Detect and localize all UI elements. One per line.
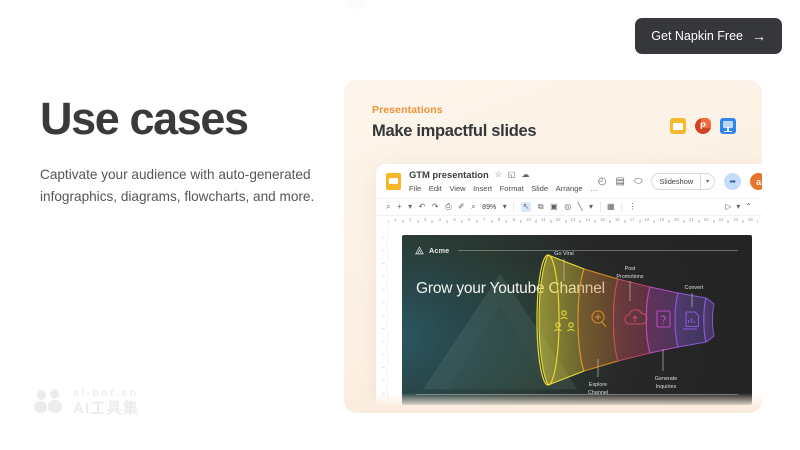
canvas-area: Acme Grow your Youtube Channel bbox=[376, 227, 762, 413]
ruler-unit: 6 bbox=[462, 217, 477, 227]
ruler-unit: 5 bbox=[447, 217, 462, 227]
ruler-tick-label: 21 bbox=[689, 217, 694, 222]
ruler-unit: 4 bbox=[432, 217, 447, 227]
select-tool-icon[interactable]: ↖ bbox=[521, 202, 532, 212]
ruler-tick-label: 11 bbox=[541, 217, 545, 222]
ruler-unit: 3 bbox=[418, 217, 433, 227]
ruler-unit: 18 bbox=[640, 217, 655, 227]
layout-tool-icon[interactable]: ▦ bbox=[607, 203, 615, 211]
top-center-mark bbox=[344, 0, 366, 9]
line-chevron-icon[interactable]: ▾ bbox=[589, 203, 593, 211]
ruler-tick-label: 25 bbox=[748, 217, 753, 222]
ruler-tick-label: 6 bbox=[468, 217, 470, 222]
ruler-tick-label: 9 bbox=[513, 217, 515, 222]
menu-item-view[interactable]: View bbox=[449, 184, 465, 193]
powerpoint-icon bbox=[695, 118, 711, 134]
funnel-label-post-promotions-line2: Promotions bbox=[616, 274, 644, 280]
app-toolbar: ⌕ + ▾ ↶ ↷ ⎙ ✐ ⌕ 89% ▾ ↖ ⧉ ▣ ◎ ╲ ▾ ▦ ⋮ bbox=[376, 198, 762, 215]
search-icon[interactable]: ⌕ bbox=[386, 203, 390, 211]
app-titlebar-actions: ◴ ▤ ⬭ Slideshow ▾ ➦ a bbox=[598, 169, 762, 190]
ruler-tick-label: 17 bbox=[630, 217, 635, 222]
textbox-tool-icon[interactable]: ⧉ bbox=[538, 203, 544, 211]
use-case-card: Presentations Make impactful slides GTM … bbox=[344, 80, 762, 413]
get-napkin-free-button[interactable]: Get Napkin Free → bbox=[635, 18, 782, 54]
page-root: Get Napkin Free → Use cases Captivate yo… bbox=[0, 0, 800, 450]
funnel-segment-go-viral bbox=[539, 255, 584, 385]
slideshow-label: Slideshow bbox=[652, 177, 700, 186]
ruler-unit: 15 bbox=[595, 217, 610, 227]
comment-icon[interactable]: ▤ bbox=[615, 177, 624, 187]
ruler-tick-label: 5 bbox=[453, 217, 455, 222]
slide-content[interactable]: Acme Grow your Youtube Channel bbox=[402, 235, 752, 405]
vertical-ruler-tick bbox=[382, 315, 385, 316]
card-eyebrow: Presentations bbox=[372, 104, 536, 116]
vertical-ruler-tick bbox=[382, 328, 385, 329]
ruler-unit: 25 bbox=[743, 217, 758, 227]
ruler-unit: 16 bbox=[610, 217, 625, 227]
ruler-tick-label: 24 bbox=[733, 217, 738, 222]
move-folder-icon[interactable]: ◱ bbox=[508, 171, 516, 179]
page-title: Use cases bbox=[40, 95, 320, 142]
app-icon-group bbox=[670, 118, 736, 134]
ruler-unit: 13 bbox=[566, 217, 581, 227]
chevron-down-icon[interactable]: ▾ bbox=[408, 203, 412, 211]
ruler-unit: 22 bbox=[699, 217, 714, 227]
vertical-ruler-tick bbox=[382, 237, 385, 238]
watermark-logo-icon bbox=[34, 389, 66, 415]
slides-doc-icon bbox=[386, 173, 401, 190]
mode-icon[interactable]: ▷ bbox=[725, 203, 731, 211]
collapse-menu-icon[interactable]: ⌃ bbox=[745, 203, 752, 211]
paint-format-icon[interactable]: ✐ bbox=[458, 203, 465, 211]
ruler-unit: 12 bbox=[551, 217, 566, 227]
ruler-unit: 20 bbox=[669, 217, 684, 227]
ruler-tick-label: 19 bbox=[659, 217, 664, 222]
ruler-unit: 21 bbox=[684, 217, 699, 227]
ruler-unit: 9 bbox=[506, 217, 521, 227]
vertical-ruler[interactable] bbox=[376, 227, 388, 413]
funnel-diagram: Go Viral Explore Channel Post Promotions… bbox=[526, 237, 750, 403]
ruler-tick-label: 16 bbox=[615, 217, 620, 222]
keynote-icon bbox=[720, 118, 736, 134]
ruler-unit: 17 bbox=[625, 217, 640, 227]
ruler-tick-label: 3 bbox=[424, 217, 426, 222]
ruler-unit: 8 bbox=[492, 217, 507, 227]
menu-item-edit[interactable]: Edit bbox=[429, 184, 442, 193]
card-bottom-fade bbox=[344, 393, 762, 413]
menu-item-format[interactable]: Format bbox=[500, 184, 524, 193]
ruler-tick-label: 10 bbox=[526, 217, 531, 222]
slideshow-button[interactable]: Slideshow ▾ bbox=[651, 173, 715, 190]
vertical-ruler-tick bbox=[382, 367, 385, 368]
card-title: Make impactful slides bbox=[372, 122, 536, 141]
hero-subcopy: Captivate your audience with auto-genera… bbox=[40, 164, 320, 208]
watermark-brand: AI工具集 bbox=[73, 401, 139, 417]
image-tool-icon[interactable]: ▣ bbox=[550, 203, 558, 211]
ruler-tick-label: 20 bbox=[674, 217, 679, 222]
card-header: Presentations Make impactful slides bbox=[372, 104, 536, 141]
ruler-tick-label: 2 bbox=[409, 217, 411, 222]
ruler-unit: 10 bbox=[521, 217, 536, 227]
more-options-icon[interactable]: ⋮ bbox=[629, 203, 637, 211]
print-icon[interactable]: ⎙ bbox=[445, 203, 451, 211]
funnel-segment-convert bbox=[675, 293, 706, 347]
shape-tool-icon[interactable]: ◎ bbox=[564, 203, 571, 211]
version-history-icon[interactable]: ◴ bbox=[598, 177, 607, 187]
funnel-label-generate-inquiries-line1: Generate bbox=[655, 376, 677, 382]
new-slide-icon[interactable]: + bbox=[397, 203, 402, 211]
vertical-ruler-tick bbox=[382, 263, 385, 264]
ruler-tick-label: 13 bbox=[571, 217, 576, 222]
ruler-unit: 24 bbox=[728, 217, 743, 227]
ruler-unit: 7 bbox=[477, 217, 492, 227]
menu-item-more[interactable]: … bbox=[590, 184, 598, 193]
ruler-unit: 2 bbox=[403, 217, 418, 227]
ruler-tick-label: 15 bbox=[600, 217, 605, 222]
ruler-tick-label: 22 bbox=[704, 217, 709, 222]
ruler-tick-label: 14 bbox=[585, 217, 590, 222]
ruler-unit: 14 bbox=[580, 217, 595, 227]
redo-icon[interactable]: ↷ bbox=[432, 203, 439, 211]
hero-copy: Use cases Captivate your audience with a… bbox=[40, 95, 320, 208]
ruler-unit: 19 bbox=[654, 217, 669, 227]
menu-item-file[interactable]: File bbox=[409, 184, 421, 193]
funnel-segment-generate-inquiries bbox=[646, 287, 678, 353]
cloud-status-icon[interactable]: ☁ bbox=[521, 171, 529, 179]
divider bbox=[621, 202, 622, 212]
ruler-unit: 1 bbox=[388, 217, 403, 227]
ruler-tick-label: 12 bbox=[556, 217, 561, 222]
ruler-tick-label: 23 bbox=[719, 217, 724, 222]
google-slides-icon bbox=[670, 118, 686, 134]
zoom-chevron-icon[interactable]: ▾ bbox=[503, 203, 507, 211]
funnel-label-explore-channel-line1: Explore bbox=[589, 382, 607, 388]
vertical-ruler-tick bbox=[382, 380, 385, 381]
slide-canvas[interactable]: Acme Grow your Youtube Channel bbox=[388, 227, 762, 413]
zoom-icon[interactable]: ⌕ bbox=[471, 203, 475, 211]
vertical-ruler-tick bbox=[382, 250, 385, 251]
meet-camera-icon[interactable]: ⬭ bbox=[634, 177, 643, 187]
ruler-tick-label: 18 bbox=[645, 217, 650, 222]
funnel-label-generate-inquiries-line2: Inquiries bbox=[656, 384, 677, 390]
menu-item-slide[interactable]: Slide bbox=[531, 184, 548, 193]
avatar[interactable]: a bbox=[750, 173, 762, 190]
vertical-ruler-tick bbox=[382, 276, 385, 277]
vertical-ruler-tick bbox=[382, 341, 385, 342]
star-icon[interactable]: ☆ bbox=[495, 171, 502, 179]
acme-logo-icon bbox=[415, 246, 424, 255]
ruler-unit: 23 bbox=[714, 217, 729, 227]
funnel-label-go-viral: Go Viral bbox=[554, 251, 573, 257]
menu-item-arrange[interactable]: Arrange bbox=[556, 184, 583, 193]
watermark: ai-bot.cn AI工具集 bbox=[34, 388, 139, 417]
watermark-domain: ai-bot.cn bbox=[73, 388, 139, 399]
menu-bar: File Edit View Insert Format Slide Arran… bbox=[409, 184, 598, 193]
vertical-ruler-tick bbox=[382, 289, 385, 290]
share-button[interactable]: ➦ bbox=[724, 173, 741, 190]
arrow-right-icon: → bbox=[752, 29, 766, 43]
mode-chevron-icon[interactable]: ▾ bbox=[736, 203, 740, 211]
ruler-tick-label: 8 bbox=[498, 217, 500, 222]
document-title[interactable]: GTM presentation bbox=[409, 169, 489, 180]
divider bbox=[513, 202, 514, 212]
chevron-down-icon[interactable]: ▾ bbox=[701, 178, 714, 185]
vertical-ruler-tick bbox=[382, 302, 385, 303]
funnel-segment-post-promotions bbox=[614, 279, 651, 361]
ruler-tick-label: 4 bbox=[439, 217, 441, 222]
ruler-tick-label: 1 bbox=[394, 217, 396, 222]
slide-brand-name: Acme bbox=[429, 246, 449, 255]
undo-icon[interactable]: ↶ bbox=[419, 203, 426, 211]
funnel-label-convert: Convert bbox=[685, 285, 704, 291]
line-tool-icon[interactable]: ╲ bbox=[578, 203, 583, 211]
divider bbox=[600, 202, 601, 212]
menu-item-insert[interactable]: Insert bbox=[473, 184, 492, 193]
zoom-level[interactable]: 89% bbox=[482, 204, 496, 211]
horizontal-ruler[interactable]: 1234567891011121314151617181920212223242… bbox=[376, 215, 762, 227]
ruler-unit: 11 bbox=[536, 217, 551, 227]
funnel-label-post-promotions-line1: Post bbox=[625, 266, 636, 272]
vertical-ruler-tick bbox=[382, 354, 385, 355]
ruler-tick-label: 7 bbox=[483, 217, 485, 222]
cta-label: Get Napkin Free bbox=[651, 29, 743, 43]
app-titlebar: GTM presentation ☆ ◱ ☁ File Edit View In… bbox=[376, 164, 762, 198]
slides-app-window: GTM presentation ☆ ◱ ☁ File Edit View In… bbox=[376, 164, 762, 413]
